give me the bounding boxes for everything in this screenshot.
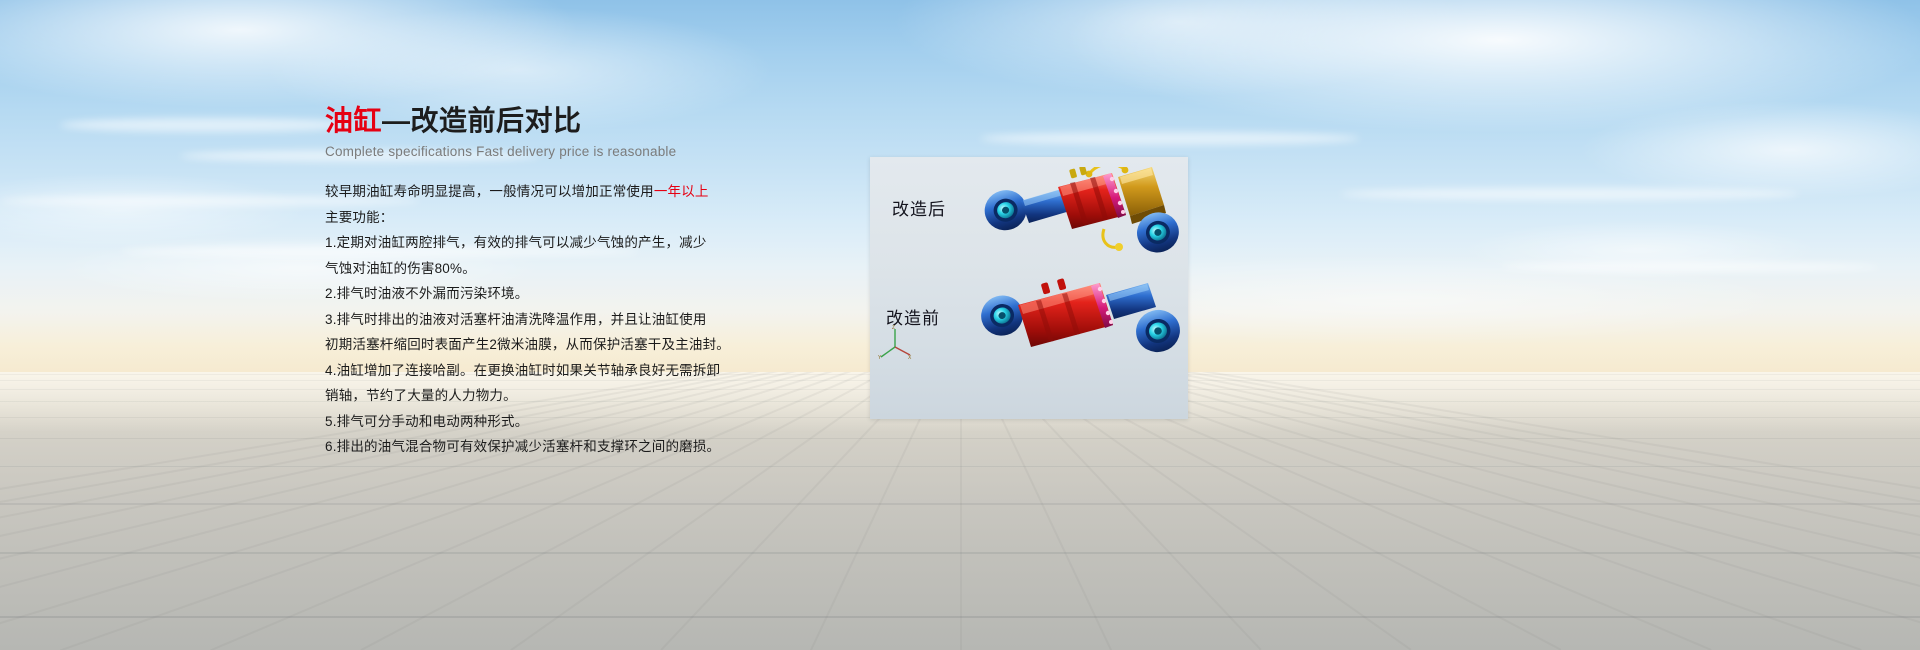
feature-line-highlight: 一年以上 [654, 184, 709, 199]
feature-line-text: 气蚀对油缸的伤害80%。 [325, 261, 476, 276]
feature-line-text: 1.定期对油缸两腔排气，有效的排气可以减少气蚀的产生，减少 [325, 235, 707, 250]
comparison-figure-panel: 改造后 改造前 [870, 157, 1188, 419]
svg-text:Z: Z [892, 325, 895, 331]
cloud-wisp [980, 132, 1360, 145]
feature-line-text: 主要功能： [325, 210, 394, 225]
page-title: 油缸—改造前后对比 [325, 104, 745, 138]
page-subtitle: Complete specifications Fast delivery pr… [325, 144, 745, 159]
feature-line: 较早期油缸寿命明显提高，一般情况可以增加正常使用一年以上 [325, 179, 745, 205]
page-title-rest: —改造前后对比 [382, 105, 582, 136]
feature-line-text: 2.排气时油液不外漏而污染环境。 [325, 286, 528, 301]
feature-list: 较早期油缸寿命明显提高，一般情况可以增加正常使用一年以上主要功能：1.定期对油缸… [325, 179, 745, 460]
feature-line-text: 销轴，节约了大量的人力物力。 [325, 388, 517, 403]
copy-block: 油缸—改造前后对比 Complete specifications Fast d… [325, 104, 745, 460]
feature-line: 主要功能： [325, 205, 745, 231]
cylinder-before-diagram [962, 275, 1188, 383]
feature-line-text: 较早期油缸寿命明显提高，一般情况可以增加正常使用 [325, 184, 654, 199]
cloud-wisp [1500, 262, 1880, 272]
feature-line: 销轴，节约了大量的人力物力。 [325, 383, 745, 409]
feature-line-text: 6.排出的油气混合物可有效保护减少活塞杆和支撑环之间的磨损。 [325, 439, 720, 454]
feature-line: 1.定期对油缸两腔排气，有效的排气可以减少气蚀的产生，减少 [325, 230, 745, 256]
feature-line: 3.排气时排出的油液对活塞杆油清洗降温作用，并且让油缸使用 [325, 307, 745, 333]
feature-line: 初期活塞杆缩回时表面产生2微米油膜，从而保护活塞干及主油封。 [325, 332, 745, 358]
page-title-highlight: 油缸 [325, 105, 382, 136]
feature-line: 5.排气可分手动和电动两种形式。 [325, 409, 745, 435]
feature-line-text: 4.油缸增加了连接哈副。在更换油缸时如果关节轴承良好无需拆卸 [325, 363, 720, 378]
feature-line: 气蚀对油缸的伤害80%。 [325, 256, 745, 282]
svg-text:X: X [908, 355, 912, 361]
feature-line-text: 初期活塞杆缩回时表面产生2微米油膜，从而保护活塞干及主油封。 [325, 337, 730, 352]
feature-line-text: 3.排气时排出的油液对活塞杆油清洗降温作用，并且让油缸使用 [325, 312, 707, 327]
feature-line: 4.油缸增加了连接哈副。在更换油缸时如果关节轴承良好无需拆卸 [325, 358, 745, 384]
axis-gizmo-icon: Z Y X [878, 325, 914, 361]
cloud-wisp [60, 118, 360, 132]
hero-banner: 油缸—改造前后对比 Complete specifications Fast d… [0, 0, 1920, 650]
cylinder-after-diagram [966, 167, 1184, 279]
cloud-wisp [1340, 188, 1800, 200]
figure-label-after: 改造后 [892, 195, 946, 220]
feature-line: 6.排出的油气混合物可有效保护减少活塞杆和支撑环之间的磨损。 [325, 434, 745, 460]
feature-line: 2.排气时油液不外漏而污染环境。 [325, 281, 745, 307]
feature-line-text: 5.排气可分手动和电动两种形式。 [325, 414, 528, 429]
